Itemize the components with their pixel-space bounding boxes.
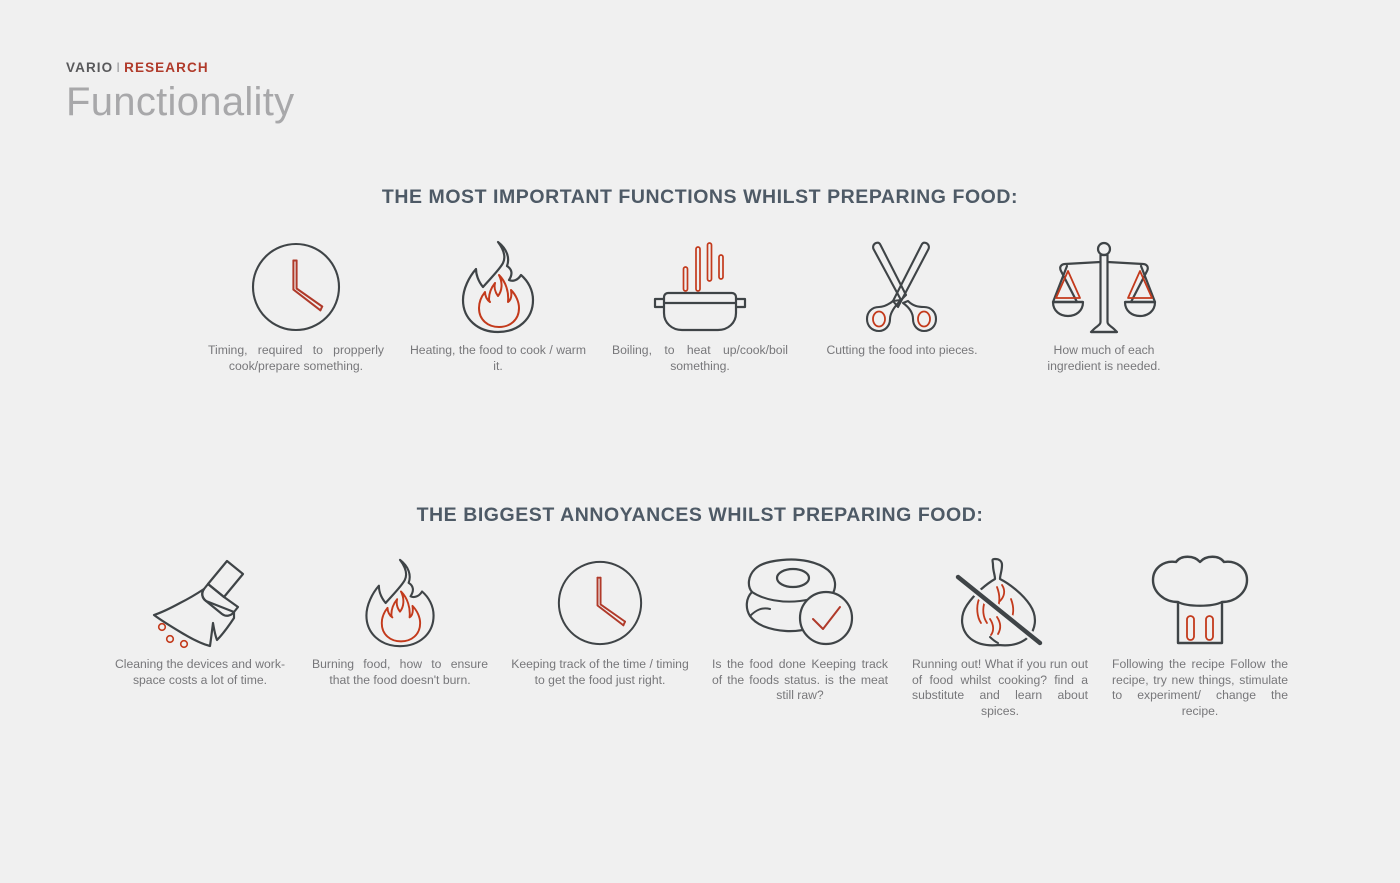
card-cleaning: Cleaning the devices and work-space cost…: [100, 549, 300, 688]
card-caption: Following the recipe Follow the recipe, …: [1112, 657, 1288, 719]
card-heating: Heating, the food to cook / warm it.: [397, 231, 599, 374]
icon-container: [556, 549, 644, 657]
no-garlic-icon: [950, 555, 1050, 651]
icon-container: [458, 231, 538, 343]
card-caption: Cutting the food into pieces.: [814, 343, 990, 359]
card-caption: Boiling, to heat up/cook/boil something.: [612, 343, 788, 374]
card-row: Timing, required to propperly cook/prepa…: [0, 231, 1400, 374]
section-biggest-annoyances: THE BIGGEST ANNOYANCES WHILST PREPARING …: [0, 504, 1400, 719]
section-important-functions: THE MOST IMPORTANT FUNCTIONS WHILST PREP…: [0, 186, 1400, 374]
card-caption: Cleaning the devices and work-space cost…: [107, 657, 293, 688]
burning-flame-icon: [361, 556, 439, 650]
page-title: Functionality: [66, 82, 294, 122]
clock-icon: [556, 559, 644, 647]
icon-container: [1049, 231, 1159, 343]
card-recipe: Following the recipe Follow the recipe, …: [1100, 549, 1300, 719]
scissors-icon: [863, 237, 941, 337]
section-title: THE MOST IMPORTANT FUNCTIONS WHILST PREP…: [0, 186, 1400, 209]
category-label: RESEARCH: [124, 60, 209, 75]
icon-container: [742, 549, 858, 657]
icon-container: [1148, 549, 1252, 657]
icon-container: [361, 549, 439, 657]
brand-label: VARIO: [66, 60, 113, 75]
steak-check-icon: [742, 556, 858, 650]
card-caption: Heating, the food to cook / warm it.: [410, 343, 586, 374]
clock-icon: [250, 241, 342, 333]
slide-header: VARIOIRESEARCH Functionality: [66, 60, 294, 122]
section-title: THE BIGGEST ANNOYANCES WHILST PREPARING …: [0, 504, 1400, 527]
card-caption: Is the food done Keeping track of the fo…: [712, 657, 888, 704]
flame-icon: [458, 238, 538, 336]
card-boiling: Boiling, to heat up/cook/boil something.: [599, 231, 801, 374]
icon-container: [863, 231, 941, 343]
chef-hat-icon: [1148, 558, 1252, 648]
card-cutting: Cutting the food into pieces.: [801, 231, 1003, 359]
card-doneness: Is the food done Keeping track of the fo…: [700, 549, 900, 704]
card-caption: Timing, required to propperly cook/prepa…: [208, 343, 384, 374]
card-caption: Keeping track of the time / timing to ge…: [507, 657, 693, 688]
card-caption: Running out! What if you run out of food…: [912, 657, 1088, 719]
icon-container: [250, 231, 342, 343]
breadcrumb: VARIOIRESEARCH: [66, 60, 294, 75]
card-burning: Burning food, how to ensure that the foo…: [300, 549, 500, 688]
card-time-tracking: Keeping track of the time / timing to ge…: [500, 549, 700, 688]
card-timing: Timing, required to propperly cook/prepa…: [195, 231, 397, 374]
card-row: Cleaning the devices and work-space cost…: [0, 549, 1400, 719]
card-measuring: How much of each ingredient is needed.: [1003, 231, 1205, 374]
icon-container: [148, 549, 252, 657]
boiling-pot-icon: [650, 239, 750, 335]
card-caption: How much of each ingredient is needed.: [1029, 343, 1179, 374]
card-caption: Burning food, how to ensure that the foo…: [312, 657, 488, 688]
balance-scale-icon: [1049, 240, 1159, 334]
card-running-out: Running out! What if you run out of food…: [900, 549, 1100, 719]
breadcrumb-separator: I: [116, 60, 121, 75]
broom-icon: [148, 555, 252, 651]
icon-container: [950, 549, 1050, 657]
icon-container: [650, 231, 750, 343]
